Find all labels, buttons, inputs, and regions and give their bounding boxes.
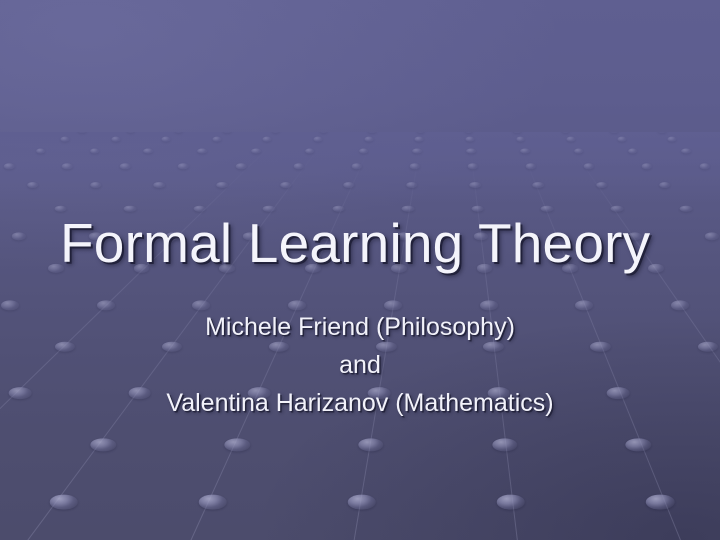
pebble-shape [497, 494, 525, 509]
pebble-shape [364, 137, 373, 142]
pebble-shape [659, 182, 670, 188]
pebble-shape [263, 205, 276, 212]
pebble-shape [359, 148, 369, 153]
pebble-shape [27, 182, 38, 188]
pebble-shape [54, 205, 67, 212]
pebble-shape [700, 163, 710, 168]
pebble-shape [126, 132, 135, 133]
pebble-shape [628, 148, 638, 153]
pebble-shape [162, 137, 171, 142]
pebble-shape [416, 132, 425, 133]
pebble-shape [415, 137, 424, 142]
pebble-shape [520, 148, 530, 153]
pebble-shape [413, 148, 423, 153]
pebble-shape [406, 182, 417, 188]
pebble-shape [471, 205, 484, 212]
pebble-shape [617, 137, 626, 142]
pebble-shape [193, 205, 206, 212]
pebble-shape [144, 148, 154, 153]
pebble-shape [465, 137, 474, 142]
pebble-shape [541, 205, 554, 212]
pebble-shape [697, 342, 717, 352]
pebble-shape [9, 387, 32, 399]
pebble-shape [466, 148, 476, 153]
pebble-shape [610, 132, 619, 133]
pebble-shape [90, 182, 101, 188]
pebble-shape [212, 137, 221, 142]
pebble-shape [90, 148, 100, 153]
pebble-shape [343, 182, 354, 188]
pebble-shape [78, 132, 87, 133]
pebble-shape [12, 233, 26, 240]
pebble-shape [178, 163, 188, 168]
pebble-shape [175, 132, 184, 133]
subtitle-line-conjunction: and [60, 346, 660, 384]
pebble-shape [251, 148, 261, 153]
pebble-shape [320, 132, 329, 133]
pebble-shape [705, 233, 719, 240]
pebble-shape [197, 148, 207, 153]
pebble-shape [402, 205, 415, 212]
pebble-shape [646, 494, 674, 509]
pebble-shape [236, 163, 246, 168]
pebble-shape [526, 163, 536, 168]
pebble-shape [199, 494, 227, 509]
pebble-shape [111, 137, 120, 142]
pebble-shape [4, 163, 14, 168]
pebble-shape [332, 205, 345, 212]
pebble-shape [358, 438, 383, 451]
pebble-shape [561, 132, 570, 133]
pebble-shape [410, 163, 420, 168]
pebble-shape [305, 148, 315, 153]
presentation-slide: Formal Learning Theory Michele Friend (P… [0, 0, 720, 540]
pebble-shape [469, 182, 480, 188]
pebble-shape [314, 137, 323, 142]
pebble-shape [348, 494, 376, 509]
pebble-shape [223, 132, 232, 133]
pebble-shape [626, 438, 651, 451]
pebble-shape [153, 182, 164, 188]
pebble-shape [584, 163, 594, 168]
pebble-shape [468, 163, 478, 168]
subtitle-line-author-1: Michele Friend (Philosophy) [60, 308, 660, 346]
pebble-shape [62, 163, 72, 168]
pebble-shape [567, 137, 576, 142]
pebble-shape [516, 137, 525, 142]
pebble-shape [36, 148, 46, 153]
page-title: Formal Learning Theory [60, 214, 660, 273]
pebble-shape [596, 182, 607, 188]
pebble-shape [91, 438, 116, 451]
pebble-shape [224, 438, 249, 451]
pebble-shape [682, 148, 692, 153]
pebble-shape [680, 205, 693, 212]
pebble-shape [124, 205, 137, 212]
slide-subtitle: Michele Friend (Philosophy) and Valentin… [60, 308, 660, 422]
subtitle-line-author-2: Valentina Harizanov (Mathematics) [60, 384, 660, 422]
pebble-shape [533, 182, 544, 188]
pebble-shape [611, 205, 624, 212]
pebble-shape [120, 163, 130, 168]
pebble-shape [61, 137, 70, 142]
pebble-shape [49, 494, 77, 509]
pebble-shape [1, 301, 19, 310]
pebble-shape [492, 438, 517, 451]
pebble-shape [271, 132, 280, 133]
pebble-shape [671, 301, 689, 310]
pebble-shape [658, 132, 667, 133]
pebble-shape [642, 163, 652, 168]
pebble-shape [668, 137, 677, 142]
pebble-shape [574, 148, 584, 153]
pebble-shape [263, 137, 272, 142]
